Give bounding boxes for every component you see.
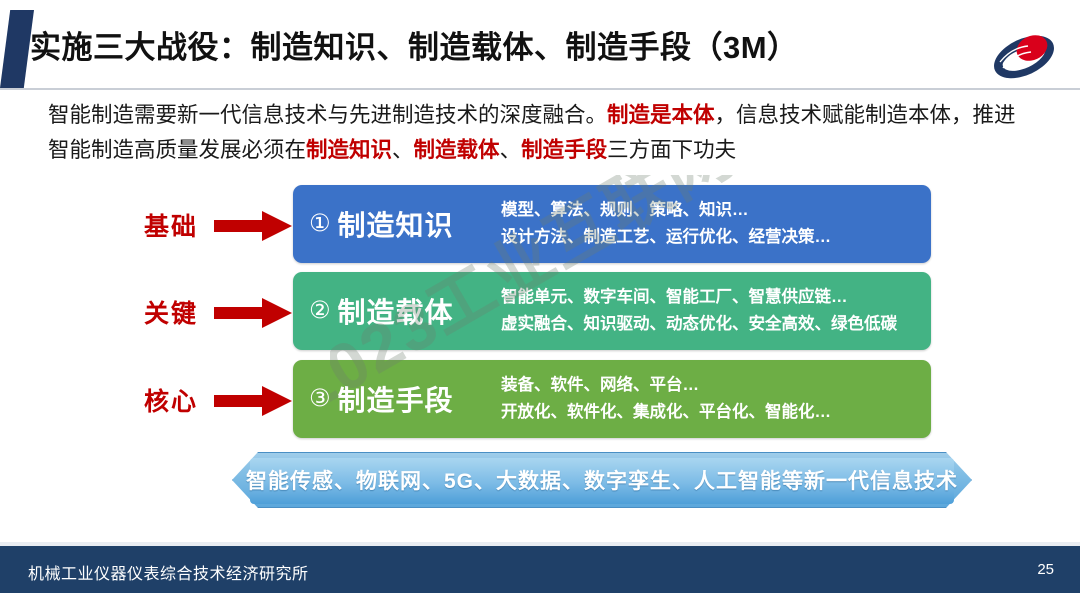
tier-detail-1-line-1: 模型、算法、规则、策略、知识… [501,197,921,224]
tier-name-3: 制造手段 [338,379,454,419]
tier-head-1: ① 制造知识 [293,204,501,244]
tier-label-key: 关键 [128,294,214,330]
slide-footer: 机械工业仪器仪表综合技术经济研究所 25 [0,546,1080,593]
tier-box-manufacturing-knowledge[interactable]: ① 制造知识 模型、算法、规则、策略、知识… 设计方法、制造工艺、运行优化、经营… [293,185,931,263]
arrow-right-icon-3 [214,386,292,416]
tier-label-core: 核心 [128,382,214,418]
foundation-technologies-banner[interactable]: 智能传感、物联网、5G、大数据、数字孪生、人工智能等新一代信息技术 [232,452,972,508]
ribbon-label: 智能传感、物联网、5G、大数据、数字孪生、人工智能等新一代信息技术 [232,452,972,508]
slide: 实施三大战役：制造知识、制造载体、制造手段（3M） ITEI 智能制造需要新一代… [0,0,1080,593]
tier-detail-2-line-2: 虚实融合、知识驱动、动态优化、安全高效、绿色低碳 [501,311,921,338]
tier-row-2: 关键 ② 制造载体 智能单元、数字车间、智能工厂、智慧供应链… 虚实融合、知识驱… [0,272,1080,352]
tier-box-manufacturing-means[interactable]: ③ 制造手段 装备、软件、网络、平台… 开放化、软件化、集成化、平台化、智能化… [293,360,931,438]
arrow-right-icon-2 [214,298,292,328]
tier-number-3: ③ [309,387,331,411]
tier-number-2: ② [309,299,331,323]
arrow-right-icon-1 [214,211,292,241]
footer-organization: 机械工业仪器仪表综合技术经济研究所 [28,560,309,584]
footer-page-number: 25 [1037,561,1054,578]
tier-head-3: ③ 制造手段 [293,379,501,419]
tier-detail-2-line-1: 智能单元、数字车间、智能工厂、智慧供应链… [501,284,921,311]
tier-detail-3-line-1: 装备、软件、网络、平台… [501,372,921,399]
tier-detail-1-line-2: 设计方法、制造工艺、运行优化、经营决策… [501,224,921,251]
tier-label-foundation: 基础 [128,207,214,243]
tier-detail-2: 智能单元、数字车间、智能工厂、智慧供应链… 虚实融合、知识驱动、动态优化、安全高… [501,284,931,338]
tier-detail-3: 装备、软件、网络、平台… 开放化、软件化、集成化、平台化、智能化… [501,372,931,426]
tier-head-2: ② 制造载体 [293,291,501,331]
tier-name-1: 制造知识 [338,204,454,244]
tier-detail-3-line-2: 开放化、软件化、集成化、平台化、智能化… [501,399,921,426]
tier-number-1: ① [309,212,331,236]
tier-box-manufacturing-carrier[interactable]: ② 制造载体 智能单元、数字车间、智能工厂、智慧供应链… 虚实融合、知识驱动、动… [293,272,931,350]
tier-detail-1: 模型、算法、规则、策略、知识… 设计方法、制造工艺、运行优化、经营决策… [501,197,931,251]
footer-top-strip [0,542,1080,546]
tier-row-3: 核心 ③ 制造手段 装备、软件、网络、平台… 开放化、软件化、集成化、平台化、智… [0,360,1080,440]
tier-name-2: 制造载体 [338,291,454,331]
tier-row-1: 基础 ① 制造知识 模型、算法、规则、策略、知识… 设计方法、制造工艺、运行优化… [0,185,1080,265]
